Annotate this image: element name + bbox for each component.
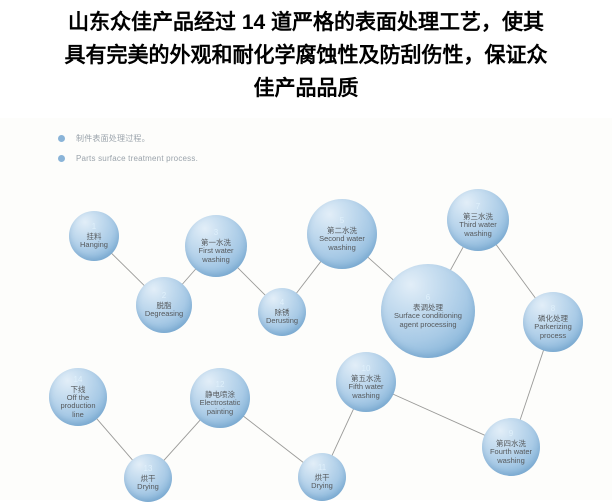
bullet-dot-icon: [58, 155, 65, 162]
process-node-3[interactable]: 3第一水洗First waterwashing: [185, 215, 247, 277]
page-title: 山东众佳产品经过 14 道严格的表面处理工艺，使其具有完美的外观和耐化学腐蚀性及…: [0, 6, 612, 105]
process-diagram-panel: 制件表面处理过程。Parts surface treatment process…: [0, 118, 612, 500]
process-node-number: 13: [144, 464, 153, 473]
connector-6-to-7: [450, 246, 463, 270]
connector-3-to-4: [237, 267, 266, 296]
process-node-number: 6: [426, 293, 430, 302]
bullet-dot-icon: [58, 135, 65, 142]
connector-10-to-11: [332, 408, 354, 456]
process-node-label-en: Degreasing: [142, 310, 186, 319]
process-node-12[interactable]: 12静电喷涂Electrostaticpainting: [190, 368, 250, 428]
process-node-label-en: washing: [325, 244, 359, 253]
process-node-9[interactable]: 9第四水洗Fourth waterwashing: [482, 418, 540, 476]
process-node-number: 8: [551, 304, 555, 313]
process-node-label-en: washing: [349, 392, 383, 401]
process-node-label-en: washing: [199, 256, 233, 265]
legend-item-2: Parts surface treatment process.: [58, 150, 198, 167]
process-node-number: 10: [362, 364, 371, 373]
connector-2-to-3: [182, 269, 196, 285]
page-title-line-1: 山东众佳产品经过 14 道严格的表面处理工艺，使其: [0, 6, 612, 39]
page-title-line-3: 佳产品品质: [0, 72, 612, 105]
connector-1-to-2: [111, 253, 145, 286]
process-node-5[interactable]: 5第二水洗Second waterwashing: [307, 199, 377, 269]
connector-8-to-9: [520, 349, 544, 420]
process-node-label-en: agent processing: [396, 321, 459, 330]
process-node-label-en: Drying: [308, 482, 336, 491]
process-node-number: 14: [74, 375, 83, 384]
process-node-label-en: washing: [494, 457, 528, 466]
connector-4-to-5: [296, 261, 321, 294]
connector-9-to-10: [392, 394, 485, 436]
legend-item-1: 制件表面处理过程。: [58, 130, 198, 147]
legend: 制件表面处理过程。Parts surface treatment process…: [58, 130, 198, 170]
connector-12-to-13: [163, 420, 200, 461]
process-node-number: 1: [92, 222, 96, 231]
legend-item-label: 制件表面处理过程。: [76, 133, 150, 144]
process-node-11[interactable]: 11烘干Drying: [298, 453, 346, 501]
process-node-1[interactable]: 1挂料Hanging: [69, 211, 119, 261]
process-node-6[interactable]: 6表调处理Surface conditioningagent processin…: [381, 264, 475, 358]
process-node-label-en: Derusting: [263, 317, 301, 326]
page-title-line-2: 具有完美的外观和耐化学腐蚀性及防刮伤性，保证众: [0, 39, 612, 72]
process-node-label-en: process: [537, 332, 569, 341]
process-node-number: 12: [216, 380, 225, 389]
surface-treatment-infographic: 山东众佳产品经过 14 道严格的表面处理工艺，使其具有完美的外观和耐化学腐蚀性及…: [0, 0, 612, 500]
process-node-label-en: Drying: [134, 483, 162, 492]
process-node-14[interactable]: 14下线Off theproductionline: [49, 368, 107, 426]
process-node-label-en: Hanging: [77, 241, 111, 250]
process-node-2[interactable]: 2脱脂Degreasing: [136, 277, 192, 333]
process-node-label-en: washing: [461, 230, 495, 239]
legend-item-label: Parts surface treatment process.: [76, 154, 198, 163]
process-node-number: 2: [162, 291, 166, 300]
process-node-label-en: line: [69, 411, 87, 420]
process-node-10[interactable]: 10第五水洗Fifth waterwashing: [336, 352, 396, 412]
process-node-label-en: painting: [204, 408, 236, 417]
process-node-number: 4: [280, 298, 284, 307]
connector-5-to-6: [367, 257, 393, 281]
connector-13-to-14: [96, 418, 133, 460]
process-node-number: 7: [476, 202, 480, 211]
process-node-number: 9: [509, 429, 513, 438]
process-node-8[interactable]: 8磷化处理Parkerizingprocess: [523, 292, 583, 352]
process-node-number: 3: [214, 228, 218, 237]
process-node-7[interactable]: 7第三水洗Third waterwashing: [447, 189, 509, 251]
process-node-4[interactable]: 4除锈Derusting: [258, 288, 306, 336]
process-node-number: 11: [318, 463, 326, 472]
process-node-13[interactable]: 13烘干Drying: [124, 454, 172, 502]
process-node-number: 5: [340, 216, 344, 225]
connector-7-to-8: [496, 244, 536, 298]
connector-11-to-12: [243, 416, 304, 463]
